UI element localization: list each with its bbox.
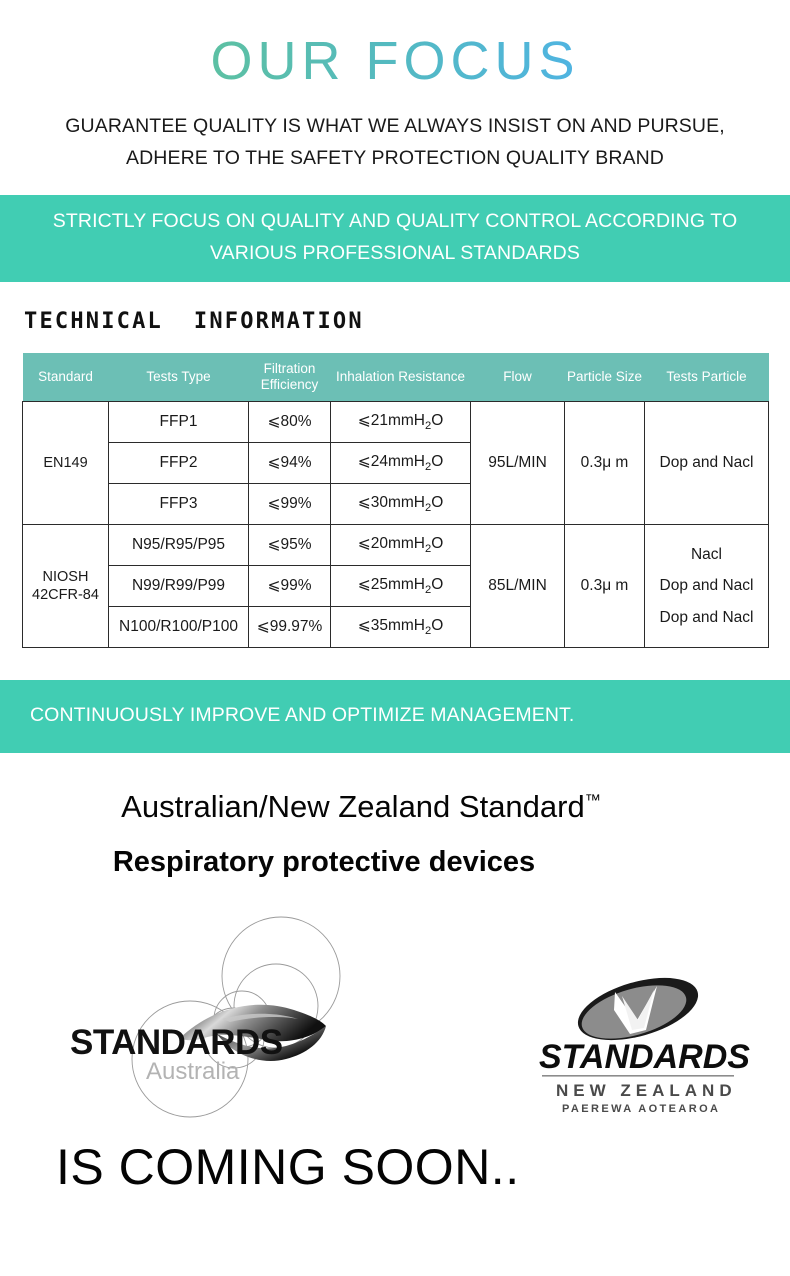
resistance-value: ⩽35mmH: [358, 617, 425, 634]
technical-information-table-wrapper: Standard Tests Type Filtration Efficienc…: [22, 353, 768, 648]
cell-flow: 95L/MIN: [471, 402, 565, 525]
standards-australia-logo: STANDARDS Australia: [62, 886, 402, 1136]
resistance-unit: O: [431, 453, 443, 470]
logo-wordmark-standards: STANDARDS: [70, 1023, 283, 1062]
resistance-unit: O: [431, 576, 443, 593]
col-header-tests-type: Tests Type: [109, 353, 249, 401]
table-row: NIOSH 42CFR-84 N95/R95/P95 ⩽95% ⩽20mmH2O…: [23, 525, 769, 566]
cell-filtration-efficiency: ⩽99%: [249, 566, 331, 607]
cell-tests-particle: Nacl Dop and Nacl Dop and Nacl: [645, 525, 769, 648]
table-row: EN149 FFP1 ⩽80% ⩽21mmH2O 95L/MIN 0.3μ m …: [23, 402, 769, 443]
table-header-row: Standard Tests Type Filtration Efficienc…: [23, 353, 769, 401]
logo-row: STANDARDS Australia STANDARDS NEW ZEALAN…: [0, 886, 790, 1136]
cell-inhalation-resistance: ⩽25mmH2O: [331, 566, 471, 607]
cell-filtration-efficiency: ⩽99%: [249, 484, 331, 525]
standard-subject: Respiratory protective devices: [0, 847, 790, 879]
cell-particle-size: 0.3μ m: [565, 525, 645, 648]
resistance-value: ⩽21mmH: [358, 412, 425, 429]
standard-name: Australian/New Zealand Standard™: [0, 790, 790, 824]
nz-wordmark-standards: STANDARDS: [539, 1038, 750, 1076]
resistance-unit: O: [431, 535, 443, 552]
cell-inhalation-resistance: ⩽35mmH2O: [331, 607, 471, 648]
cell-tests-particle: Dop and Nacl: [645, 402, 769, 525]
nz-wordmark-paerewa-aotearoa: PAEREWA AOTEAROA: [562, 1103, 720, 1115]
cell-inhalation-resistance: ⩽30mmH2O: [331, 484, 471, 525]
continuous-improvement-banner: CONTINUOUSLY IMPROVE AND OPTIMIZE MANAGE…: [0, 680, 790, 752]
page-title: OUR FOCUS: [0, 0, 790, 88]
resistance-value: ⩽24mmH: [358, 453, 425, 470]
nz-wordmark-new-zealand: NEW ZEALAND: [556, 1081, 737, 1100]
table-body: EN149 FFP1 ⩽80% ⩽21mmH2O 95L/MIN 0.3μ m …: [23, 402, 769, 648]
cell-tests-type: N100/R100/P100: [109, 607, 249, 648]
col-header-tests-particle: Tests Particle: [645, 353, 769, 401]
quality-focus-banner: STRICTLY FOCUS ON QUALITY AND QUALITY CO…: [0, 195, 790, 282]
col-header-inhalation-resistance: Inhalation Resistance: [331, 353, 471, 401]
cell-standard: NIOSH 42CFR-84: [23, 525, 109, 648]
resistance-unit: O: [431, 494, 443, 511]
nz-divider: [542, 1075, 734, 1077]
resistance-unit: O: [431, 412, 443, 429]
logo-wordmark-australia: Australia: [146, 1058, 240, 1085]
technical-information-table: Standard Tests Type Filtration Efficienc…: [22, 353, 769, 648]
cell-inhalation-resistance: ⩽20mmH2O: [331, 525, 471, 566]
col-header-particle-size: Particle Size: [565, 353, 645, 401]
col-header-flow: Flow: [471, 353, 565, 401]
col-header-standard: Standard: [23, 353, 109, 401]
technical-information-heading: TECHNICAL INFORMATION: [24, 309, 790, 334]
cell-filtration-efficiency: ⩽94%: [249, 443, 331, 484]
trademark-icon: ™: [585, 791, 601, 809]
coming-soon-text: IS COMING SOON..: [0, 1142, 790, 1192]
cell-tests-type: N99/R99/P99: [109, 566, 249, 607]
cell-tests-type: FFP3: [109, 484, 249, 525]
cell-filtration-efficiency: ⩽95%: [249, 525, 331, 566]
standard-name-text: Australian/New Zealand Standard: [121, 789, 585, 824]
cell-tests-type: FFP2: [109, 443, 249, 484]
standards-new-zealand-logo: STANDARDS NEW ZEALAND PAEREWA AOTEAROA: [518, 976, 758, 1116]
cell-filtration-efficiency: ⩽80%: [249, 402, 331, 443]
cell-inhalation-resistance: ⩽21mmH2O: [331, 402, 471, 443]
resistance-value: ⩽20mmH: [358, 535, 425, 552]
cell-particle-size: 0.3μ m: [565, 402, 645, 525]
cell-tests-type: N95/R95/P95: [109, 525, 249, 566]
cell-inhalation-resistance: ⩽24mmH2O: [331, 443, 471, 484]
cell-filtration-efficiency: ⩽99.97%: [249, 607, 331, 648]
resistance-value: ⩽30mmH: [358, 494, 425, 511]
standard-announcement: Australian/New Zealand Standard™ Respira…: [0, 790, 790, 879]
cell-standard: EN149: [23, 402, 109, 525]
cell-flow: 85L/MIN: [471, 525, 565, 648]
cell-tests-type: FFP1: [109, 402, 249, 443]
resistance-unit: O: [431, 617, 443, 634]
resistance-value: ⩽25mmH: [358, 576, 425, 593]
hero-subtitle: GUARANTEE QUALITY IS WHAT WE ALWAYS INSI…: [0, 111, 790, 174]
col-header-filtration-efficiency: Filtration Efficiency: [249, 353, 331, 401]
hero-section: OUR FOCUS GUARANTEE QUALITY IS WHAT WE A…: [0, 0, 790, 174]
